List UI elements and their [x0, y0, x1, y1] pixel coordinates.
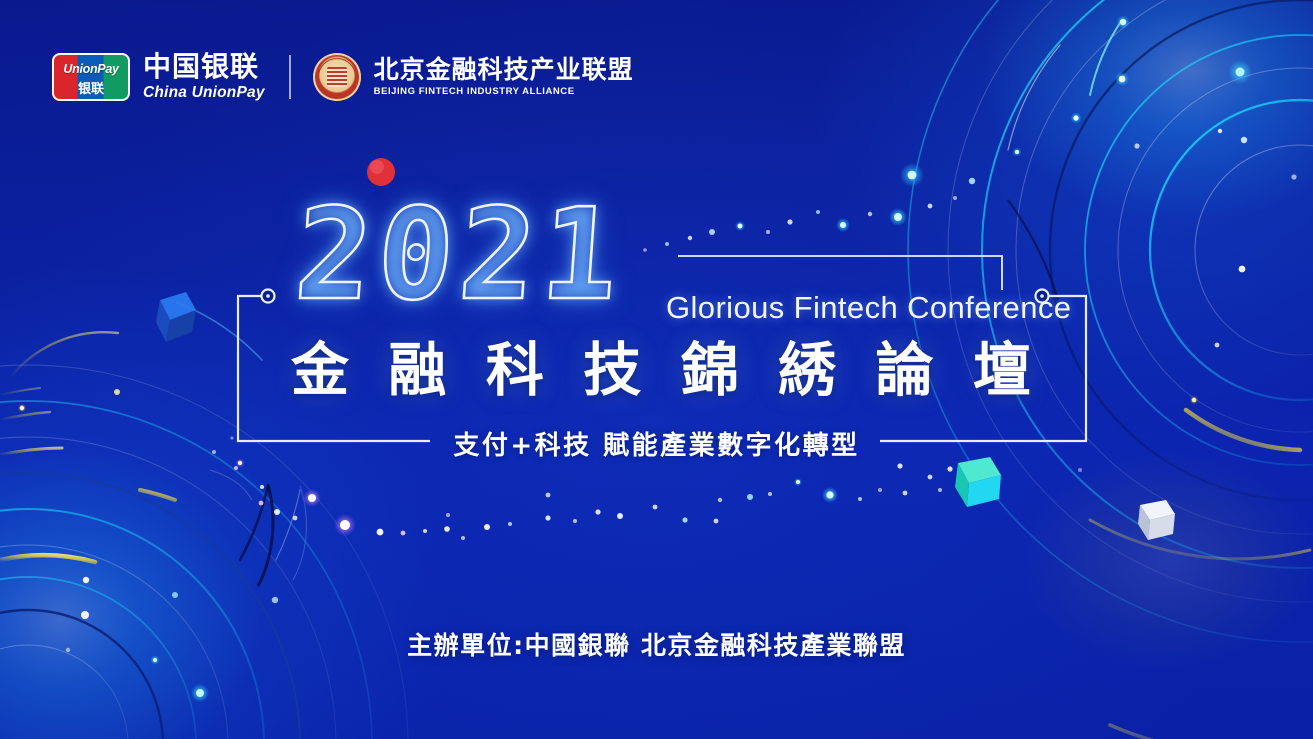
cube-blue-icon	[156, 292, 196, 342]
cube-white-icon	[1138, 500, 1175, 540]
event-title-cn: 金 融 科 技 錦 綉 論 壇	[291, 338, 1031, 403]
title-char: 技	[583, 338, 641, 403]
unionpay-card-icon: UnionPay 银联	[52, 53, 130, 101]
particle-trail-upper	[643, 163, 1058, 300]
alliance-name-en: BEIJING FINTECH INDUSTRY ALLIANCE	[374, 87, 634, 97]
event-key-visual: UnionPay 银联 中国银联 China UnionPay 北京金融科技产业…	[0, 0, 1313, 739]
cube-teal-icon	[955, 457, 1001, 507]
particle-trail	[210, 459, 1082, 587]
unionpay-logo: UnionPay 银联 中国银联 China UnionPay	[52, 53, 265, 101]
alliance-logo: 北京金融科技产业联盟 BEIJING FINTECH INDUSTRY ALLI…	[313, 53, 634, 101]
title-char: 錦	[681, 338, 739, 403]
sponsor-logos: UnionPay 银联 中国银联 China UnionPay 北京金融科技产业…	[52, 50, 634, 104]
unionpay-card-line1: UnionPay	[52, 62, 130, 76]
event-tagline: 支付+科技 賦能產業數字化轉型	[0, 425, 1313, 462]
arc-cluster-bottom-left	[0, 365, 408, 739]
unionpay-card-line2: 银联	[52, 78, 130, 97]
node-dot-icon	[262, 290, 275, 303]
unionpay-name-en: China UnionPay	[143, 85, 265, 101]
alliance-name-cn: 北京金融科技产业联盟	[374, 57, 634, 82]
title-char: 科	[486, 338, 544, 403]
title-char: 論	[876, 338, 934, 403]
logo-divider	[289, 55, 291, 99]
unionpay-name-cn: 中国银联	[143, 53, 265, 81]
event-subtitle-en: Glorious Fintech Conference	[666, 290, 1071, 326]
title-char: 壇	[973, 338, 1031, 403]
bfia-seal-icon	[313, 53, 361, 101]
title-char: 金	[291, 338, 349, 403]
event-year: 2021	[292, 192, 628, 318]
title-char: 綉	[778, 338, 836, 403]
title-char: 融	[388, 338, 446, 403]
organizer-line: 主辦單位:中國銀聯 北京金融科技產業聯盟	[0, 626, 1313, 662]
